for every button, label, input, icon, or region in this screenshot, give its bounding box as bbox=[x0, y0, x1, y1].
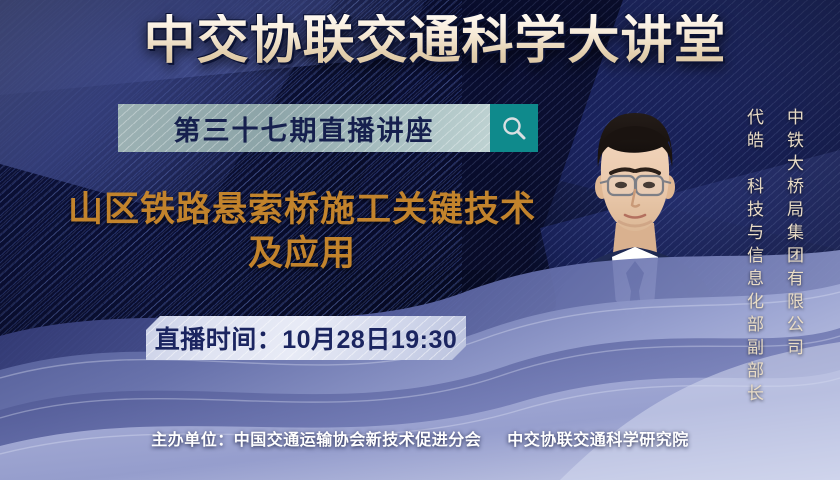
organizer-secondary: 中交协联交通科学研究院 bbox=[507, 432, 689, 449]
organizer-footer: 主办单位：中国交通运输协会新技术促进分会中交协联交通科学研究院 bbox=[0, 426, 840, 450]
episode-bar: 第三十七期直播讲座 bbox=[118, 104, 538, 152]
live-time-banner: 直播时间：10月28日19:30 bbox=[146, 316, 466, 360]
search-button[interactable] bbox=[490, 104, 538, 152]
live-time-text: 直播时间：10月28日19:30 bbox=[155, 320, 458, 356]
episode-label-box: 第三十七期直播讲座 bbox=[118, 104, 490, 152]
search-icon bbox=[500, 114, 528, 142]
speaker-name-role: 代皓 科技与信息化部副部长 bbox=[745, 108, 762, 407]
lecture-title-line-1: 山区铁路悬索桥施工关键技术 bbox=[42, 188, 562, 232]
lecture-title: 山区铁路悬索桥施工关键技术 及应用 bbox=[42, 188, 562, 276]
organizer-primary: 主办单位：中国交通运输协会新技术促进分会 bbox=[151, 432, 481, 449]
live-lecture-poster: 中交协联交通科学大讲堂 第三十七期直播讲座 山区铁路悬索桥施工关键技术 及应用 … bbox=[0, 0, 840, 480]
speaker-organization: 中铁大桥局集团有限公司 bbox=[785, 108, 802, 361]
lecture-title-line-2: 及应用 bbox=[42, 232, 562, 276]
page-title: 中交协联交通科学大讲堂 bbox=[0, 14, 840, 69]
episode-label: 第三十七期直播讲座 bbox=[174, 109, 435, 148]
